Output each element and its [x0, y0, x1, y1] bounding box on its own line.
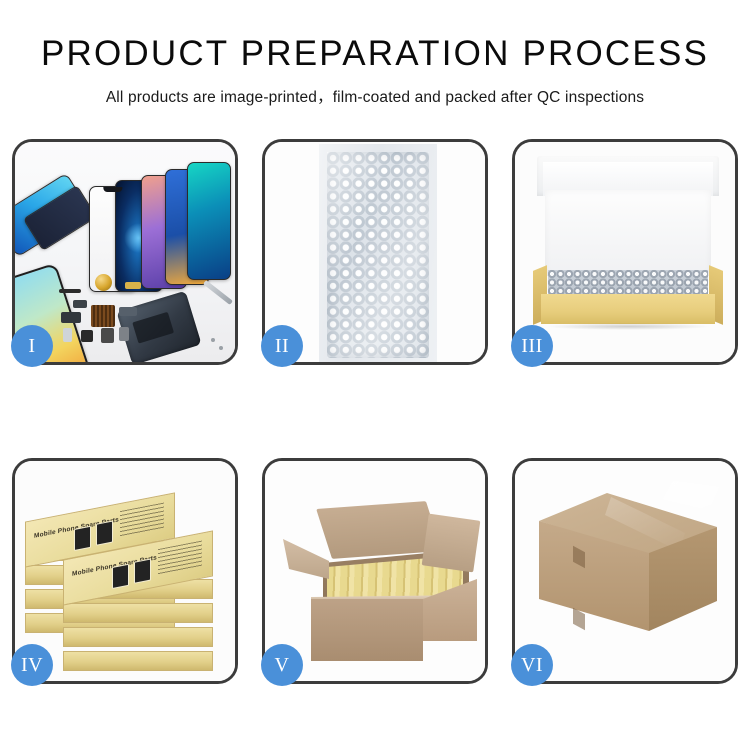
product-photo-thumb — [96, 520, 113, 545]
camera-module-part — [61, 312, 81, 323]
retail-box-edge — [63, 627, 213, 647]
page-header: PRODUCT PREPARATION PROCESS All products… — [0, 0, 750, 107]
spec-text-lines — [120, 503, 164, 538]
step-badge-4: IV — [11, 644, 53, 686]
process-step-2[interactable]: II — [262, 139, 488, 365]
step-3-image — [515, 142, 735, 362]
speaker-coil-part — [95, 274, 112, 291]
step-badge-3: III — [511, 325, 553, 367]
step-6-image — [515, 461, 735, 681]
carton-front-panel — [311, 599, 423, 661]
step-2-image — [265, 142, 485, 362]
plastic-gloss-highlight — [327, 152, 429, 358]
vibrator-part — [119, 327, 129, 341]
step-1-image — [15, 142, 235, 362]
spec-text-lines — [158, 541, 202, 576]
sim-tray-part — [63, 328, 72, 342]
process-step-4[interactable]: Mobile Phone Spare Parts Mobile Phone Sp… — [12, 458, 238, 684]
gold-connector-part — [125, 282, 141, 289]
notch-icon — [103, 187, 122, 192]
step-4-image: Mobile Phone Spare Parts Mobile Phone Sp… — [15, 461, 235, 681]
process-step-5[interactable]: V — [262, 458, 488, 684]
battery-part — [101, 328, 114, 343]
step-badge-6: VI — [511, 644, 553, 686]
box-front-panel — [541, 294, 715, 324]
step-badge-1: I — [11, 325, 53, 367]
step-badge-5: V — [261, 644, 303, 686]
retail-box-edge — [63, 651, 213, 671]
screw-part — [211, 338, 215, 342]
retail-box-edge — [63, 603, 213, 623]
chip-array-part — [91, 305, 115, 327]
page-title: PRODUCT PREPARATION PROCESS — [0, 36, 750, 71]
product-photo-thumb — [112, 564, 129, 589]
phone-screen-teal — [187, 162, 231, 280]
step-badge-2: II — [261, 325, 303, 367]
product-photo-thumb — [134, 558, 151, 583]
process-step-1[interactable]: I — [12, 139, 238, 365]
process-step-3[interactable]: III — [512, 139, 738, 365]
process-step-6[interactable]: VI — [512, 458, 738, 684]
drop-shadow — [545, 323, 711, 330]
flex-cable-part — [59, 289, 81, 293]
box-inner-back — [545, 190, 711, 276]
speaker-part — [81, 330, 93, 342]
button-flex-part — [73, 300, 87, 308]
process-step-grid: I II III — [12, 139, 738, 684]
bracket-part — [119, 307, 137, 316]
retail-box-stack: Mobile Phone Spare Parts Mobile Phone Sp… — [15, 461, 235, 681]
carton-flap-right — [422, 514, 481, 573]
screw-part — [219, 346, 223, 350]
step-5-image — [265, 461, 485, 681]
product-photo-thumb — [74, 526, 91, 551]
page-subtitle: All products are image-printed，film-coat… — [0, 85, 750, 107]
